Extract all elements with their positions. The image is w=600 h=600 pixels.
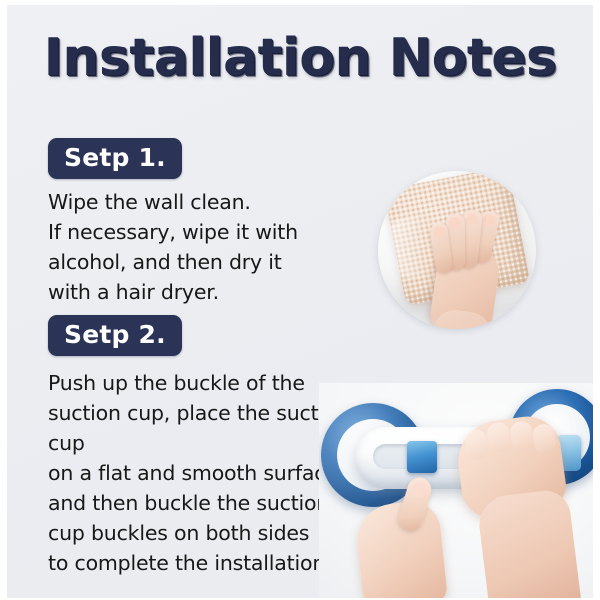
buckle-lever-left	[407, 441, 437, 473]
knuckle	[486, 421, 512, 454]
infographic-poster: Installation Notes Setp 1. Wipe the wall…	[0, 0, 600, 600]
right-hand-graphic	[459, 419, 593, 598]
step-1-photo	[378, 171, 536, 329]
knuckle	[531, 423, 557, 456]
left-hand-graphic	[359, 479, 471, 598]
knuckle	[509, 420, 535, 453]
page-title: Installation Notes	[44, 31, 557, 86]
wiping-hand-graphic	[430, 207, 516, 329]
knuckle	[464, 428, 490, 461]
step-1-body-text: Wipe the wall clean. If necessary, wipe …	[48, 187, 388, 307]
page-title-wrap: Installation Notes	[7, 31, 593, 86]
step-2-photo	[319, 383, 593, 598]
step-2-badge: Setp 2.	[48, 315, 182, 356]
poster-panel: Installation Notes Setp 1. Wipe the wall…	[7, 5, 593, 598]
forearm	[476, 488, 582, 598]
step-1-badge: Setp 1.	[48, 138, 182, 179]
